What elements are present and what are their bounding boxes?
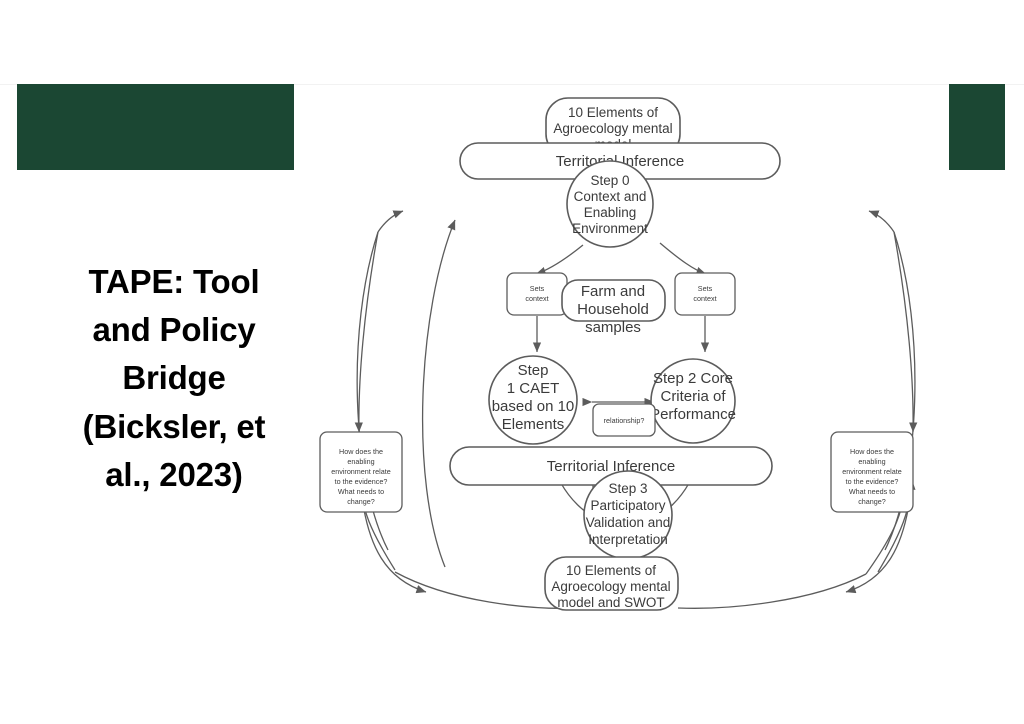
connector-step0-to-sets-right [660, 243, 706, 274]
tape-flowchart: 10 Elements of Agroecology mental model … [300, 80, 960, 625]
page-title-line-1: TAPE: Tool [48, 258, 300, 306]
node-enabling-environment-right-line-6: change? [858, 497, 886, 506]
node-enabling-environment-left[interactable]: How does the enabling environment relate… [320, 432, 402, 512]
node-enabling-environment-left-line-2: enabling [347, 457, 374, 466]
node-step2[interactable]: Step 2 Core Criteria of Performance [650, 359, 736, 443]
node-farm-household-samples-line-3: samples [585, 319, 641, 336]
node-enabling-environment-right[interactable]: How does the enabling environment relate… [831, 432, 913, 512]
node-bottom-territorial-inference-label: Territorial Inference [547, 458, 675, 475]
node-enabling-environment-left-line-4: to the evidence? [335, 477, 388, 486]
node-farm-household-samples[interactable]: Farm and Household samples [562, 280, 665, 336]
node-farm-household-samples-line-2: Household [577, 301, 649, 318]
node-step0-line-2: Context and [574, 189, 647, 204]
node-sets-context-right[interactable]: Sets context [675, 273, 735, 315]
node-top-mental-model-line-1: 10 Elements of [568, 105, 658, 120]
node-bottom-mental-model-line-2: Agroecology mental [551, 579, 670, 594]
node-enabling-environment-left-line-5: What needs to [338, 487, 384, 496]
node-step0-line-1: Step 0 [590, 173, 629, 188]
node-sets-context-left[interactable]: Sets context [507, 273, 567, 315]
node-enabling-environment-right-line-2: enabling [858, 457, 885, 466]
node-enabling-environment-right-line-1: How does the [850, 447, 894, 456]
node-step1-line-3: based on 10 [492, 398, 575, 415]
node-step1[interactable]: Step 1 CAET based on 10 Elements [489, 356, 577, 444]
node-sets-context-left-line-2: context [525, 294, 548, 303]
node-step3-line-2: Participatory [590, 498, 665, 513]
node-step1-line-4: Elements [502, 416, 565, 433]
page-title-line-2: and Policy [48, 306, 300, 354]
node-step2-line-3: Performance [650, 406, 736, 423]
page-title-line-3: Bridge [48, 354, 300, 402]
slide-canvas: TAPE: Tool and Policy Bridge (Bicksler, … [0, 0, 1024, 724]
node-relationship-label[interactable]: relationship? [593, 404, 655, 436]
node-sets-context-right-line-1: Sets [698, 284, 713, 293]
node-sets-context-left-line-1: Sets [530, 284, 545, 293]
node-top-mental-model-line-2: Agroecology mental [553, 121, 672, 136]
page-title-line-4: (Bicksler, et [48, 403, 300, 451]
node-bottom-mental-model[interactable]: 10 Elements of Agroecology mental model … [545, 557, 678, 610]
node-enabling-environment-right-line-3: environment relate [842, 467, 902, 476]
page-title-line-5: al., 2023) [48, 451, 300, 499]
node-enabling-environment-right-line-4: to the evidence? [846, 477, 899, 486]
node-step1-line-2: 1 CAET [507, 380, 560, 397]
connector-right-down-to-box [894, 232, 913, 432]
node-step2-line-2: Criteria of [660, 388, 726, 405]
accent-bar-left [17, 84, 294, 170]
connector-left-outer-up [423, 220, 455, 567]
node-step3[interactable]: Step 3 Participatory Validation and Inte… [584, 471, 672, 559]
node-step0[interactable]: Step 0 Context and Enabling Environment [567, 161, 653, 247]
node-step0-line-4: Environment [572, 221, 648, 236]
node-step2-line-1: Step 2 Core [653, 370, 733, 387]
connector-left-down-to-box [359, 232, 378, 432]
node-enabling-environment-left-line-6: change? [347, 497, 375, 506]
node-bottom-mental-model-line-3: model and SWOT [557, 595, 664, 610]
node-step3-line-3: Validation and [586, 515, 671, 530]
node-enabling-environment-right-line-5: What needs to [849, 487, 895, 496]
node-step3-line-1: Step 3 [608, 481, 647, 496]
node-bottom-mental-model-line-1: 10 Elements of [566, 563, 656, 578]
node-step0-line-3: Enabling [584, 205, 637, 220]
connector-step0-to-sets-left [536, 245, 583, 274]
page-title: TAPE: Tool and Policy Bridge (Bicksler, … [48, 258, 300, 499]
node-enabling-environment-left-line-3: environment relate [331, 467, 391, 476]
node-farm-household-samples-line-1: Farm and [581, 283, 645, 300]
node-sets-context-right-line-2: context [693, 294, 716, 303]
node-step1-line-1: Step [518, 362, 549, 379]
node-step3-line-4: Interpretation [588, 532, 668, 547]
node-relationship-label-text: relationship? [604, 416, 645, 425]
connector-step3-right-line [678, 574, 866, 608]
node-enabling-environment-left-line-1: How does the [339, 447, 383, 456]
